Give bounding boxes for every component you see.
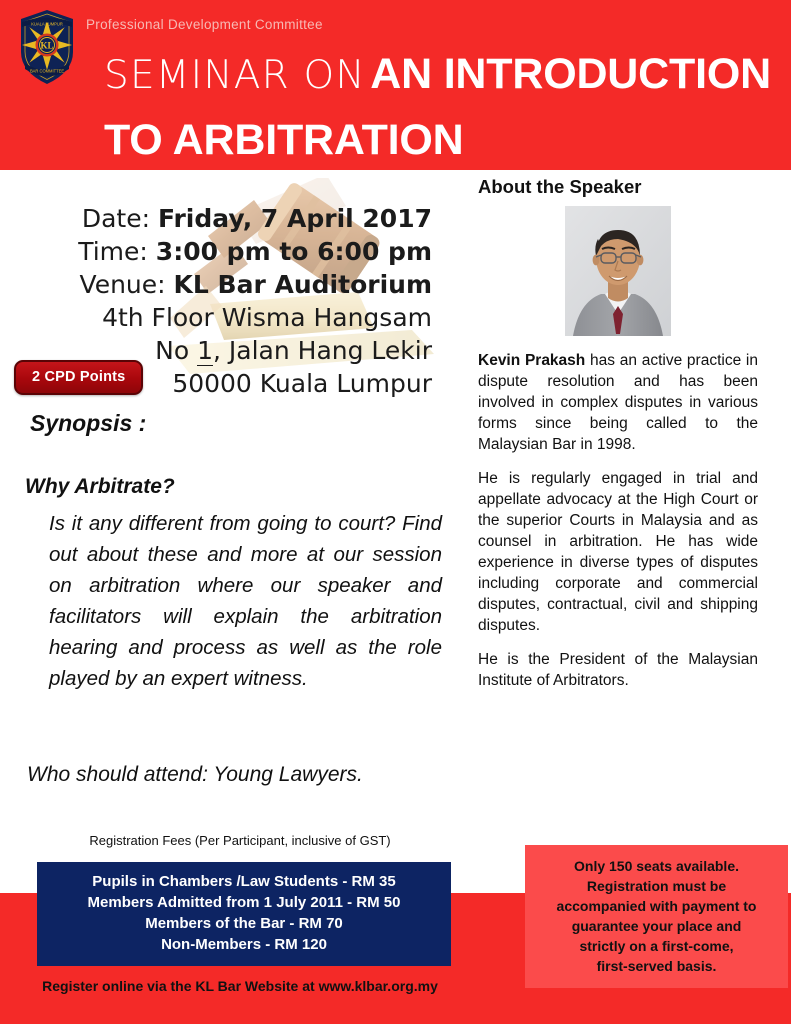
bio-paragraph-2: He is regularly engaged in trial and app… xyxy=(478,468,758,636)
event-venue-row: Venue: KL Bar Auditorium xyxy=(0,268,432,301)
seats-notice-line: Registration must be xyxy=(535,876,778,896)
seats-notice-line: guarantee your place and xyxy=(535,916,778,936)
seminar-poster: KL KUALA LUMPUR BAR COMMITTEE Profession… xyxy=(0,0,791,1024)
header-banner: KL KUALA LUMPUR BAR COMMITTEE Profession… xyxy=(0,0,791,170)
address-street-number: 1 xyxy=(197,336,213,366)
fee-line: Non-Members - RM 120 xyxy=(37,934,451,955)
left-column: Date: Friday, 7 April 2017 Time: 3:00 pm… xyxy=(0,170,462,890)
bio-paragraph-1: Kevin Prakash has an active practice in … xyxy=(478,350,758,455)
seats-notice-line: first-served basis. xyxy=(535,956,778,976)
kl-bar-logo-icon: KL KUALA LUMPUR BAR COMMITTEE xyxy=(16,8,78,86)
fees-caption: Registration Fees (Per Participant, incl… xyxy=(0,833,480,848)
seats-notice-box: Only 150 seats available. Registration m… xyxy=(525,845,788,988)
fees-box: Pupils in Chambers /Law Students - RM 35… xyxy=(37,862,451,966)
seats-notice-line: Only 150 seats available. xyxy=(535,856,778,876)
cpd-points-badge: 2 CPD Points xyxy=(14,360,143,395)
venue-value: KL Bar Auditorium xyxy=(174,270,432,299)
fee-line: Members Admitted from 1 July 2011 - RM 5… xyxy=(37,892,451,913)
event-date-row: Date: Friday, 7 April 2017 xyxy=(0,202,432,235)
about-the-speaker-heading: About the Speaker xyxy=(478,176,758,198)
title-main-1: AN INTRODUCTION xyxy=(370,50,771,98)
address-line-2-a: No xyxy=(155,336,197,365)
seminar-title-line-2: TO ARBITRATION xyxy=(104,116,464,165)
speaker-bio: Kevin Prakash has an active practice in … xyxy=(478,350,758,691)
time-value: 3:00 pm to 6:00 pm xyxy=(156,237,432,266)
title-main-2: TO ARBITRATION xyxy=(104,116,464,164)
venue-label: Venue: xyxy=(80,270,166,299)
bio-paragraph-3: He is the President of the Malaysian Ins… xyxy=(478,649,758,691)
register-online-text[interactable]: Register online via the KL Bar Website a… xyxy=(0,978,480,994)
title-prefix: SEMINAR ON xyxy=(104,53,366,98)
speaker-column: About the Speaker xyxy=(478,176,758,704)
committee-label: Professional Development Committee xyxy=(86,17,323,32)
address-line-1: 4th Floor Wisma Hangsam xyxy=(0,301,432,334)
svg-text:KUALA LUMPUR: KUALA LUMPUR xyxy=(31,21,63,26)
seminar-title-line-1: SEMINAR ON AN INTRODUCTION xyxy=(104,50,771,99)
svg-text:BAR COMMITTEE: BAR COMMITTEE xyxy=(30,69,64,74)
svg-text:KL: KL xyxy=(40,40,53,50)
seats-notice-line: accompanied with payment to xyxy=(535,896,778,916)
fee-line: Members of the Bar - RM 70 xyxy=(37,913,451,934)
speaker-photo xyxy=(565,206,671,336)
date-value: Friday, 7 April 2017 xyxy=(158,204,432,233)
event-time-row: Time: 3:00 pm to 6:00 pm xyxy=(0,235,432,268)
date-label: Date: xyxy=(82,204,150,233)
synopsis-heading: Synopsis : xyxy=(30,410,146,437)
who-should-attend: Who should attend: Young Lawyers. xyxy=(27,763,363,787)
seats-notice-line: strictly on a first-come, xyxy=(535,936,778,956)
speaker-name: Kevin Prakash xyxy=(478,352,585,369)
time-label: Time: xyxy=(78,237,148,266)
why-arbitrate-heading: Why Arbitrate? xyxy=(25,475,175,499)
fee-line: Pupils in Chambers /Law Students - RM 35 xyxy=(37,871,451,892)
synopsis-body: Is it any different from going to court?… xyxy=(49,508,442,694)
address-line-2-c: , Jalan Hang Lekir xyxy=(213,336,432,365)
